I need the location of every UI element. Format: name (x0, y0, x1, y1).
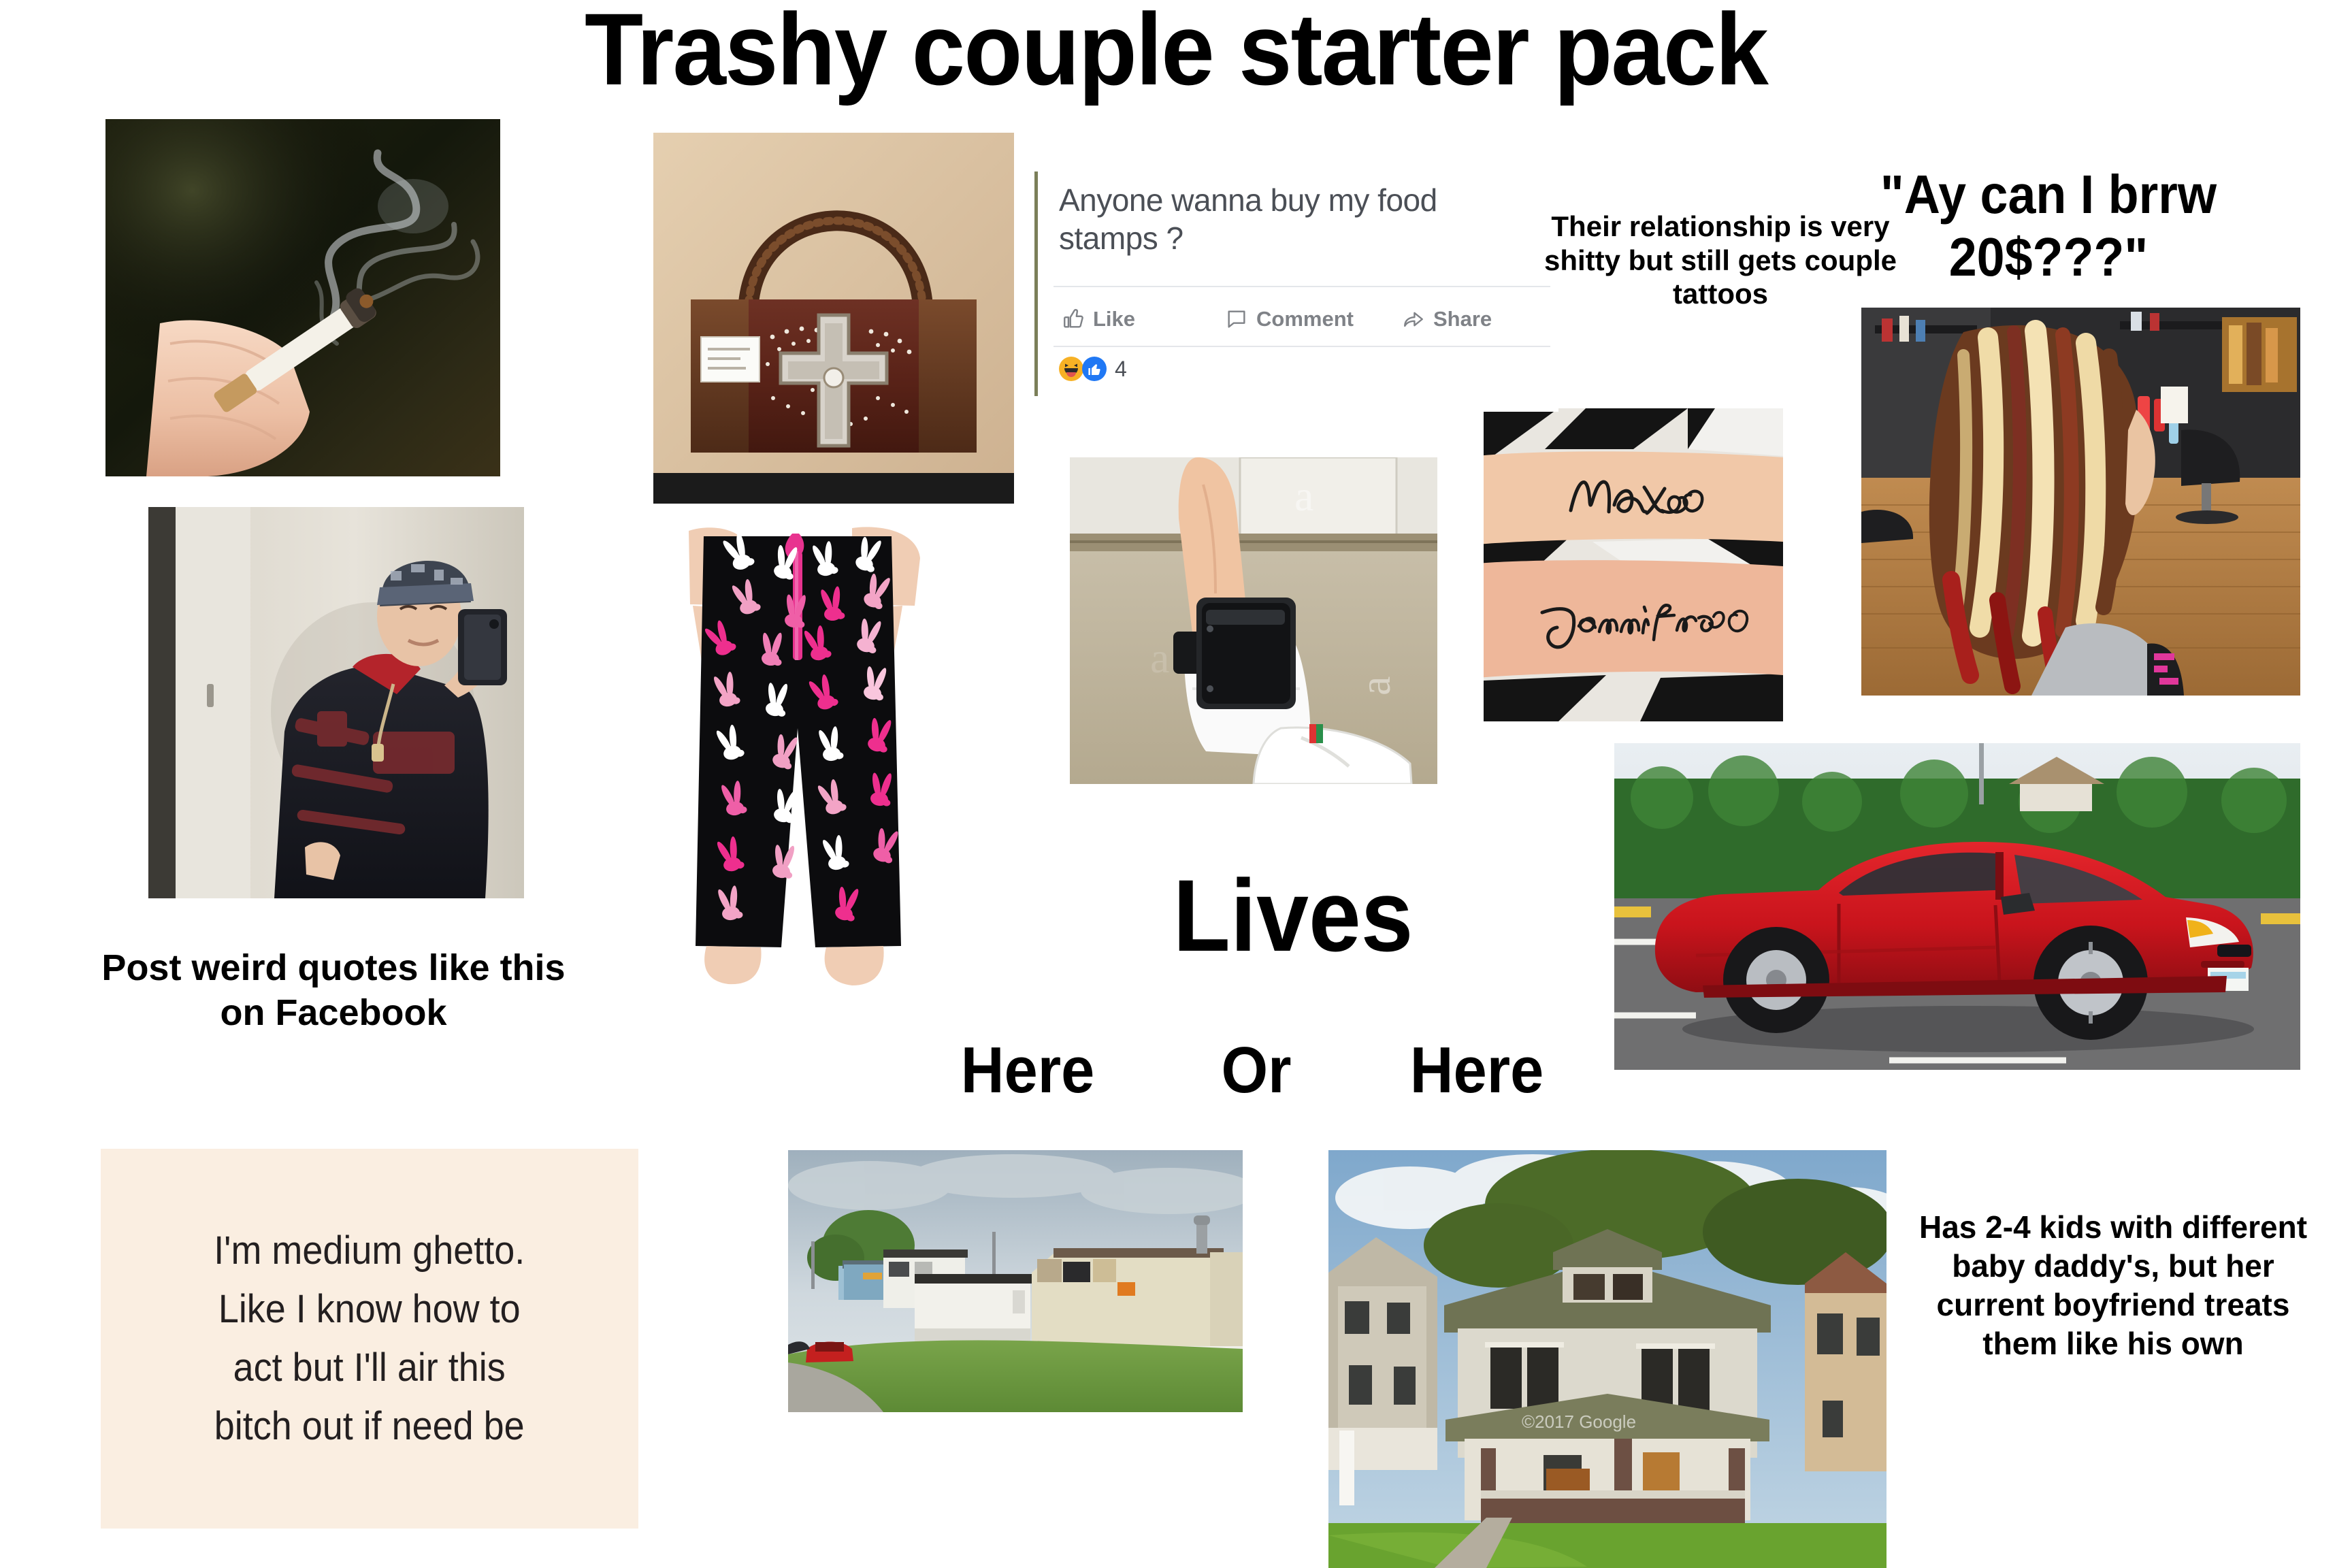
quote-card: I'm medium ghetto. Like I know how to ac… (101, 1149, 638, 1529)
facebook-post-card: Anyone wanna buy my food stamps ? Like C… (1034, 163, 1558, 412)
playboy-pajama-pants-photo (648, 524, 947, 994)
red-sedan-photo (1614, 743, 2300, 1070)
share-button[interactable]: Share (1402, 307, 1492, 331)
comment-label: Comment (1256, 307, 1354, 331)
share-arrow-icon (1402, 308, 1425, 331)
trailer-park-photo (788, 1150, 1243, 1412)
comment-button[interactable]: Comment (1225, 307, 1402, 331)
facebook-post-actions: Like Comment Share (1062, 298, 1552, 340)
ankle-monitor-photo: a a a (1070, 457, 1437, 784)
couple-tattoos-photo (1484, 408, 1783, 721)
page-title: Trashy couple starter pack (71, 0, 2282, 103)
like-button[interactable]: Like (1062, 307, 1225, 331)
thumbs-up-icon (1062, 308, 1085, 331)
post-divider-bottom (1053, 346, 1550, 347)
post-left-accent (1034, 171, 1038, 396)
kids-caption: Has 2-4 kids with different baby daddy's… (1919, 1208, 2307, 1363)
rhinestone-cross-purse-photo (653, 133, 1014, 504)
post-divider-top (1053, 286, 1550, 287)
svg-text:a: a (1150, 634, 1169, 682)
mirror-selfie-photo (148, 507, 524, 898)
facebook-post-reactions[interactable]: 4 (1058, 355, 1127, 382)
comment-bubble-icon (1225, 308, 1248, 331)
svg-text:©2017 Google: ©2017 Google (1522, 1411, 1636, 1432)
here-left-caption: Here (915, 1038, 1140, 1103)
here-right-caption: Here (1364, 1038, 1589, 1103)
chunky-highlights-hair-photo (1861, 308, 2300, 696)
lives-caption: Lives (1124, 864, 1463, 966)
post-weird-quotes-caption: Post weird quotes like this on Facebook (95, 946, 572, 1036)
cigarette-smoke-photo (105, 119, 500, 476)
svg-text:a: a (1294, 472, 1313, 520)
quote-card-text: I'm medium ghetto. Like I know how to ac… (214, 1222, 525, 1455)
like-reaction-icon (1081, 355, 1108, 382)
like-label: Like (1093, 307, 1135, 331)
reaction-count: 4 (1115, 357, 1127, 382)
svg-text:a: a (1351, 676, 1399, 696)
borrow-money-caption: "Ay can I brrw 20$???" (1810, 163, 2286, 289)
share-label: Share (1433, 307, 1492, 331)
facebook-post-body: Anyone wanna buy my food stamps ? (1059, 181, 1522, 257)
street-view-house-photo: ©2017 Google (1328, 1150, 1886, 1568)
or-caption: Or (1181, 1038, 1332, 1103)
